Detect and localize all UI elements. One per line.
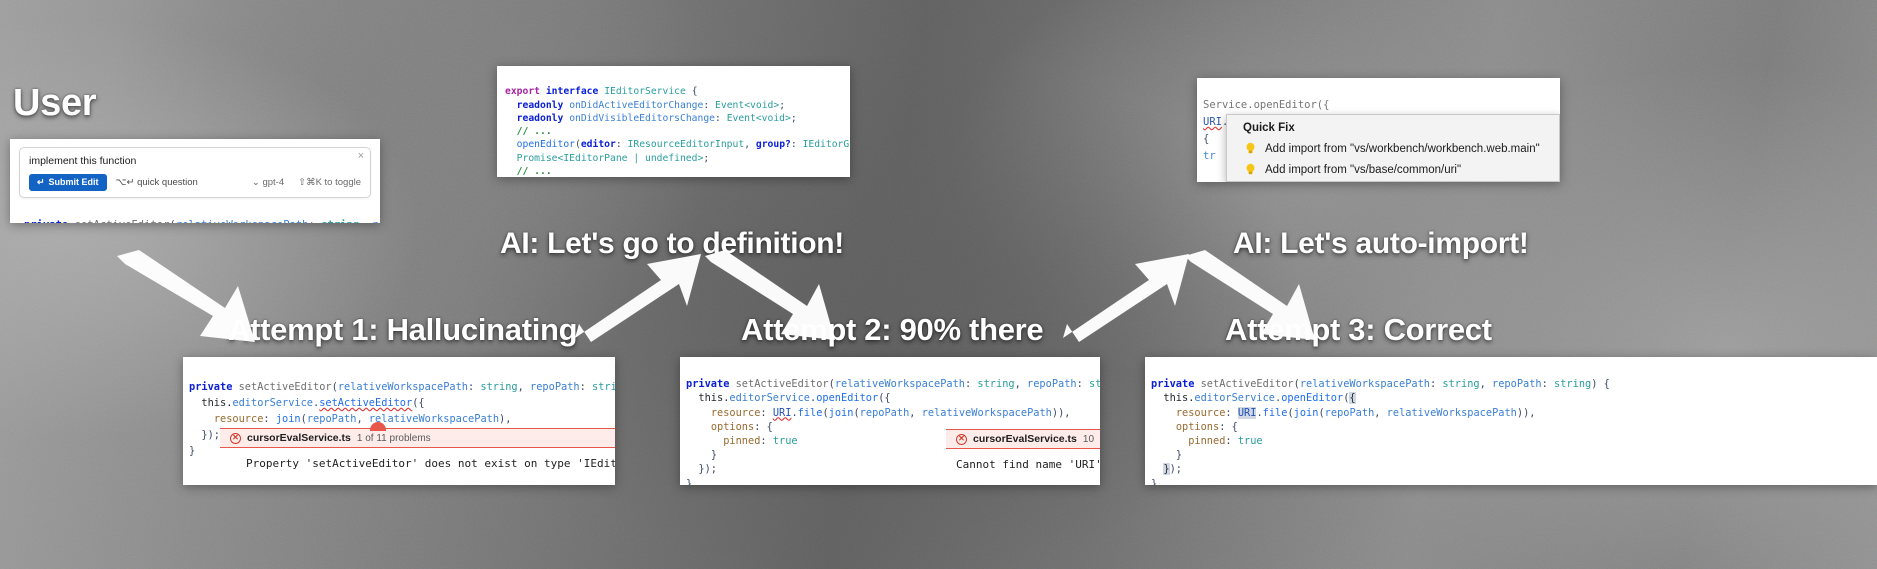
- attempt1-error-count: 1 of 11 problems: [357, 433, 431, 444]
- attempt3-code: private setActiveEditor(relativeWorkspac…: [1145, 357, 1877, 485]
- toggle-hint: ⇧⌘K to toggle: [298, 177, 361, 188]
- attempt2-card: private setActiveEditor(relativeWorkspac…: [680, 357, 1100, 485]
- error-circle-icon: ✕: [230, 433, 241, 444]
- quickfix-item-label: Add import from "vs/base/common/uri": [1265, 164, 1461, 176]
- error-pointer-nub: [370, 422, 386, 431]
- quickfix-item-label: Add import from "vs/workbench/workbench.…: [1265, 143, 1540, 155]
- prompt-input-box[interactable]: × implement this function ↵ Submit Edit …: [19, 147, 371, 198]
- prompt-right-controls: ⌄ gpt-4 ⇧⌘K to toggle: [252, 177, 361, 188]
- quickfix-title: Quick Fix: [1227, 115, 1559, 138]
- lightbulb-icon: [1245, 142, 1256, 155]
- arrow-definition-to-attempt2: [695, 250, 840, 345]
- close-icon[interactable]: ×: [358, 151, 364, 162]
- attempt2-error-message: Cannot find name 'URI'.: [946, 451, 1100, 477]
- submit-edit-button[interactable]: ↵ Submit Edit: [29, 174, 107, 191]
- quickfix-card: Service.openEditor({ URI.file(join(repoP…: [1197, 78, 1560, 182]
- prompt-action-row: ↵ Submit Edit ⌥↵ quick question ⌄ gpt-4 …: [29, 174, 361, 191]
- definition-code: export interface IEditorService { readon…: [497, 66, 850, 177]
- attempt2-error-bar: ✕ cursorEvalService.ts 10: [946, 429, 1100, 449]
- error-circle-icon: ✕: [956, 434, 967, 445]
- lightbulb-icon: [1245, 163, 1256, 176]
- label-user: User: [13, 82, 96, 125]
- attempt1-card: private setActiveEditor(relativeWorkspac…: [183, 357, 615, 485]
- definition-panel: export interface IEditorService { readon…: [497, 66, 850, 177]
- prompt-text[interactable]: implement this function: [29, 155, 361, 168]
- quickfix-popup[interactable]: Quick Fix Add import from "vs/workbench/…: [1226, 114, 1560, 182]
- attempt1-error-file: cursorEvalService.ts: [247, 432, 351, 444]
- quickfix-item-uri[interactable]: Add import from "vs/base/common/uri": [1227, 159, 1559, 180]
- quick-question-action[interactable]: ⌥↵ quick question: [116, 177, 198, 188]
- submit-edit-label: Submit Edit: [49, 177, 99, 187]
- quickfix-item-workbench[interactable]: Add import from "vs/workbench/workbench.…: [1227, 138, 1559, 159]
- attempt3-card: private setActiveEditor(relativeWorkspac…: [1145, 357, 1877, 485]
- arrow-quickfix-to-attempt3: [1175, 250, 1320, 345]
- enter-key-icon: ↵: [37, 177, 45, 188]
- poster-canvas: User × implement this function ↵ Submit …: [0, 0, 1877, 569]
- attempt1-error-message: Property 'setActiveEditor' does not exis…: [220, 450, 615, 476]
- model-selector[interactable]: ⌄ gpt-4: [252, 177, 284, 188]
- quick-question-label: quick question: [137, 177, 198, 188]
- label-attempt1: Attempt 1: Hallucinating: [228, 312, 577, 348]
- user-prompt-code: private setActiveEditor(relativeWorkspac…: [10, 198, 380, 223]
- user-prompt-card: × implement this function ↵ Submit Edit …: [10, 139, 380, 223]
- arrow-attempt2-to-quickfix: [1063, 250, 1193, 345]
- attempt2-error-count: 10: [1083, 434, 1094, 445]
- chevron-down-icon: ⌄: [252, 177, 260, 188]
- attempt1-error-bar: ✕ cursorEvalService.ts 1 of 11 problems: [220, 428, 615, 448]
- attempt2-error-file: cursorEvalService.ts: [973, 433, 1077, 445]
- quick-question-shortcut: ⌥↵: [116, 177, 135, 188]
- arrow-attempt1-to-definition: [575, 250, 705, 345]
- arrow-user-to-attempt1: [105, 250, 265, 345]
- model-label: gpt-4: [262, 177, 284, 188]
